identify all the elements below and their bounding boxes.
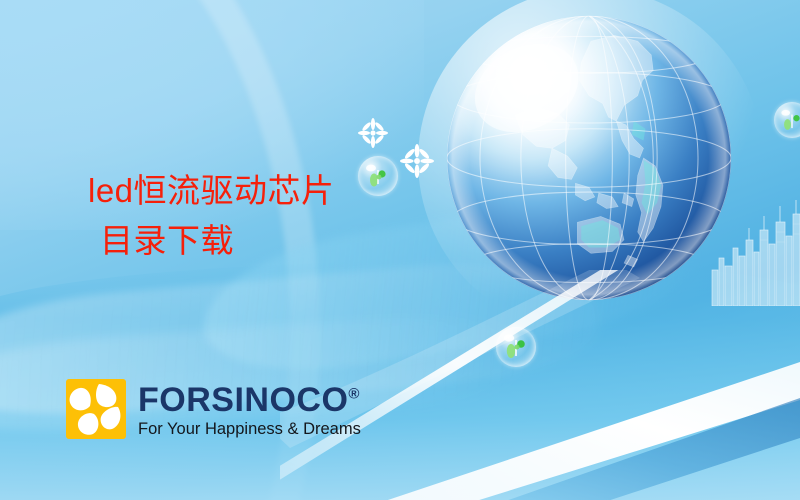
globe-earth-icon — [443, 12, 735, 304]
sparkle-flower-icon — [358, 118, 388, 148]
pinwheel-petals-icon — [66, 379, 126, 439]
registered-trademark-icon: ® — [348, 386, 360, 403]
logo-tagline: For Your Happiness & Dreams — [138, 421, 361, 438]
logo-wordmark-text: FORSINOCO — [138, 381, 348, 419]
logo-text-block: FORSINOCO® For Your Happiness & Dreams — [138, 379, 361, 438]
banner-image: led恒流驱动芯片 目录下载 FORSINOCO® For Your Happi… — [0, 0, 800, 500]
bubble-with-green-sprout-icon — [496, 327, 536, 367]
headline-line-2: 目录下载 — [88, 216, 418, 266]
headline-line-1: led恒流驱动芯片 — [88, 166, 418, 216]
logo-wordmark: FORSINOCO® — [138, 383, 361, 417]
bubble-with-green-sprout-icon — [774, 102, 800, 138]
company-logo: FORSINOCO® For Your Happiness & Dreams — [66, 379, 361, 439]
page-title: led恒流驱动芯片 目录下载 — [88, 166, 418, 266]
